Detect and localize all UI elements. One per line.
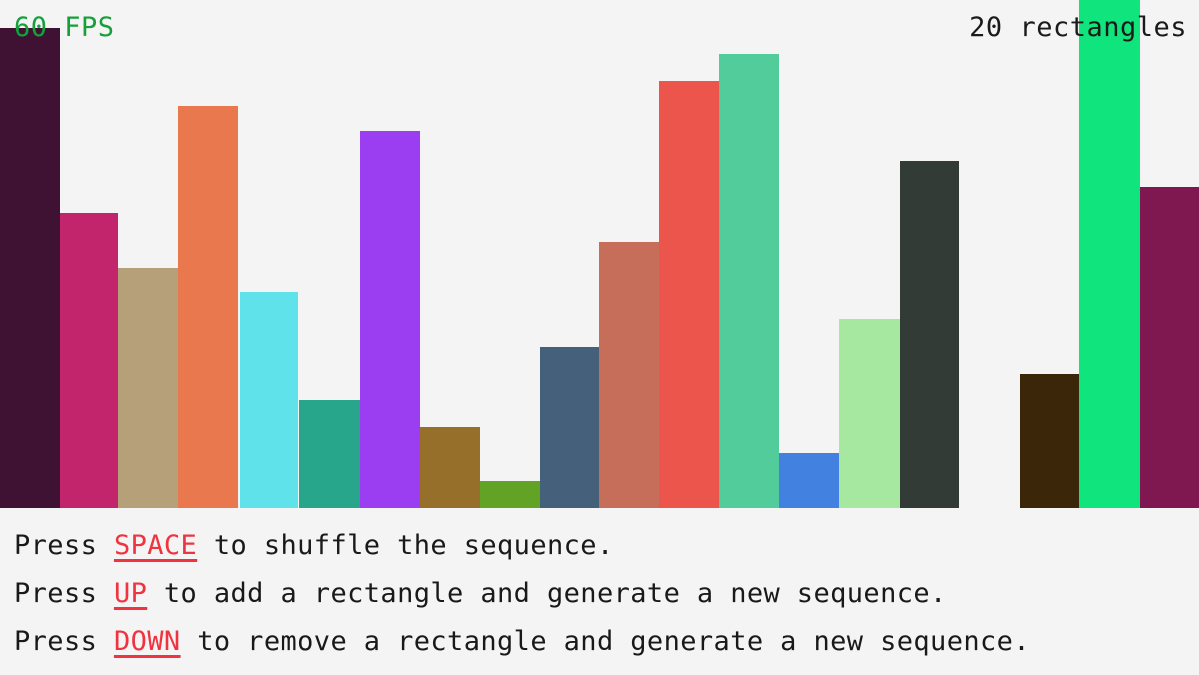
instruction-prefix: Press [14,578,114,609]
instruction-line-1: Press SPACE to shuffle the sequence. [14,522,1199,570]
chart-bar [0,28,60,508]
instructions-panel: Press SPACE to shuffle the sequence.Pres… [0,508,1199,675]
key-hint-down[interactable]: DOWN [114,626,181,657]
rectangle-chart [0,0,1199,508]
instruction-line-2: Press UP to add a rectangle and generate… [14,570,1199,618]
chart-bar [599,242,659,508]
chart-bar [118,268,178,508]
chart-bar [900,161,959,508]
chart-bar [178,106,238,508]
fps-counter: 60 FPS [14,14,115,41]
key-hint-up[interactable]: UP [114,578,147,609]
instruction-suffix: to add a rectangle and generate a new se… [147,578,946,609]
rectangle-count-label: 20 rectangles [969,14,1187,41]
instruction-suffix: to remove a rectangle and generate a new… [181,626,1030,657]
chart-bar [1140,187,1199,508]
chart-bar [360,131,420,508]
chart-bar [480,481,540,508]
app-window: 60 FPS 20 rectangles Press SPACE to shuf… [0,0,1199,675]
chart-bar [240,292,298,508]
chart-bar [1020,374,1079,508]
chart-bar [420,427,480,508]
chart-bar [779,453,839,508]
chart-bar [659,81,719,508]
instruction-suffix: to shuffle the sequence. [197,530,613,561]
chart-bar [839,319,900,508]
chart-bar [1079,0,1140,508]
chart-bar [540,347,599,508]
instruction-line-3: Press DOWN to remove a rectangle and gen… [14,618,1199,666]
chart-bar [719,54,779,508]
instruction-prefix: Press [14,626,114,657]
chart-bar [60,213,118,508]
instruction-prefix: Press [14,530,114,561]
chart-bar [299,400,360,508]
key-hint-space[interactable]: SPACE [114,530,197,561]
